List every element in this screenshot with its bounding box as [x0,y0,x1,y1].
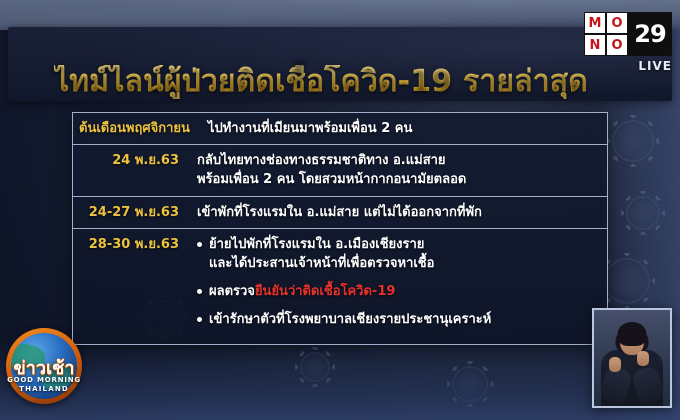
logo-letter-o: O [606,12,628,34]
highlighted-result: ยืนยันว่าติดเชื้อโควิด-19 [255,284,395,299]
logo-channel-number: 29 [628,12,672,56]
detail-prefix: ผลตรวจ [209,284,255,299]
list-item-text: เข้ารักษาตัวที่โรงพยาบาลเชียงรายประชานุเ… [209,310,601,329]
row-date: ต้นเดือนพฤศจิกายน [73,117,200,138]
row-date: 28-30 พ.ย.63 [73,233,189,254]
sign-language-interpreter-box [592,308,672,408]
network-logo-letters: M O N O [584,12,628,56]
list-item: เข้ารักษาตัวที่โรงพยาบาลเชียงรายประชานุเ… [197,310,601,329]
background-bottom-gradient [0,340,680,420]
bullet-icon [197,242,202,247]
logo-letter-o2: O [606,34,628,56]
program-logo-english-line2: THAILAND [6,386,82,393]
detail-line: ย้ายไปพักที่โรงแรมใน อ.เมืองเชียงราย [209,235,601,254]
program-logo: ข่าวเช้า GOOD MORNING THAILAND [6,328,82,404]
table-row: 24-27 พ.ย.63 เข้าพักที่โรงแรมใน อ.แม่สาย… [73,197,607,229]
broadcast-frame: ไทม์ไลน์ผู้ป่วยติดเชื้อโควิด-19 รายล่าสุ… [0,0,680,420]
page-title: ไทม์ไลน์ผู้ป่วยติดเชื้อโควิด-19 รายล่าสุ… [54,65,588,99]
row-detail: เข้าพักที่โรงแรมใน อ.แม่สาย แต่ไม่ได้ออก… [189,201,607,222]
detail-line: เข้ารักษาตัวที่โรงพยาบาลเชียงรายประชานุเ… [209,310,601,329]
logo-letter-n: N [584,34,606,56]
list-item-text: ผลตรวจยืนยันว่าติดเชื้อโควิด-19 [209,282,601,301]
table-row: ต้นเดือนพฤศจิกายน ไปทำงานที่เมียนมาพร้อม… [73,113,607,145]
logo-letter-m: M [584,12,606,34]
row-detail: ย้ายไปพักที่โรงแรมใน อ.เมืองเชียงราย และ… [189,233,607,329]
background-top-strip [0,0,680,30]
list-item: ย้ายไปพักที่โรงแรมใน อ.เมืองเชียงราย และ… [197,235,601,273]
network-logo: M O N O 29 LIVE [584,12,672,73]
live-badge: LIVE [584,59,672,73]
row-detail: กลับไทยทางช่องทางธรรมชาติทาง อ.แม่สาย พร… [189,149,607,189]
row-detail: ไปทำงานที่เมียนมาพร้อมเพื่อน 2 คน [200,117,607,138]
interpreter-hand-right [637,351,649,366]
bullet-icon [197,317,202,322]
table-row: 24 พ.ย.63 กลับไทยทางช่องทางธรรมชาติทาง อ… [73,145,607,197]
list-item: ผลตรวจยืนยันว่าติดเชื้อโควิด-19 [197,282,601,301]
detail-line: ไปทำงานที่เมียนมาพร้อมเพื่อน 2 คน [208,119,601,138]
detail-line: เข้าพักที่โรงแรมใน อ.แม่สาย แต่ไม่ได้ออก… [197,203,601,222]
interpreter-hair [618,322,647,346]
detail-line: กลับไทยทางช่องทางธรรมชาติทาง อ.แม่สาย [197,151,601,170]
timeline-panel: ต้นเดือนพฤศจิกายน ไปทำงานที่เมียนมาพร้อม… [72,112,608,345]
network-logo-mark: M O N O 29 [584,12,672,56]
list-item-text: ย้ายไปพักที่โรงแรมใน อ.เมืองเชียงราย และ… [209,235,601,273]
row-date: 24-27 พ.ย.63 [73,201,189,222]
bullet-icon [197,289,202,294]
row-date: 24 พ.ย.63 [73,149,189,170]
program-logo-english-line1: GOOD MORNING [6,377,82,384]
detail-line: ผลตรวจยืนยันว่าติดเชื้อโควิด-19 [209,282,601,301]
interpreter-hand-left [609,357,621,372]
detail-line: พร้อมเพื่อน 2 คน โดยสวมหน้ากากอนามัยตลอด [197,170,601,189]
headline-band: ไทม์ไลน์ผู้ป่วยติดเชื้อโควิด-19 รายล่าสุ… [8,27,672,101]
detail-line: และได้ประสานเจ้าหน้าที่เพื่อตรวจหาเชื้อ [209,254,601,273]
table-row: 28-30 พ.ย.63 ย้ายไปพักที่โรงแรมใน อ.เมือ… [73,229,607,341]
